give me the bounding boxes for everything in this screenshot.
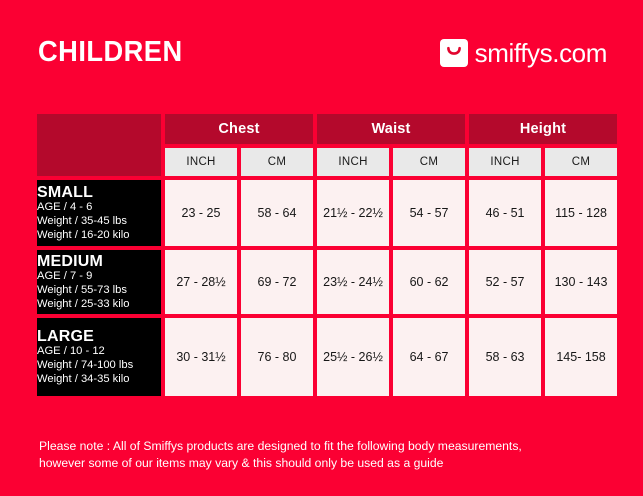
- size-weight-lbs: Weight / 55-73 lbs: [37, 284, 161, 298]
- size-age: AGE / 4 - 6: [37, 201, 161, 215]
- brand-name: smiffys.com: [475, 40, 607, 66]
- table-row: LARGE AGE / 10 - 12 Weight / 74-100 lbs …: [37, 318, 617, 396]
- unit-header-chest-inch: INCH: [165, 148, 237, 176]
- page-title: CHILDREN: [38, 38, 183, 67]
- cell-height-inch: 46 - 51: [469, 180, 541, 246]
- size-name: LARGE: [37, 328, 161, 346]
- unit-header-chest-cm: CM: [241, 148, 313, 176]
- cell-waist-cm: 60 - 62: [393, 250, 465, 314]
- cell-height-cm: 145- 158: [545, 318, 617, 396]
- size-chart-page: CHILDREN smiffys.com Chest Waist Height: [0, 0, 643, 496]
- cell-chest-cm: 69 - 72: [241, 250, 313, 314]
- size-table: Chest Waist Height INCH CM INCH CM INCH …: [33, 110, 621, 400]
- size-name: MEDIUM: [37, 253, 161, 271]
- cell-waist-cm: 54 - 57: [393, 180, 465, 246]
- cell-height-inch: 58 - 63: [469, 318, 541, 396]
- size-weight-lbs: Weight / 35-45 lbs: [37, 215, 161, 229]
- size-weight-lbs: Weight / 74-100 lbs: [37, 359, 161, 373]
- unit-header-waist-cm: CM: [393, 148, 465, 176]
- table-corner-cell: [37, 114, 161, 176]
- table-group-header-row: Chest Waist Height: [37, 114, 617, 144]
- cell-waist-inch: 21½ - 22½: [317, 180, 389, 246]
- page-header: CHILDREN smiffys.com: [0, 0, 643, 105]
- cell-chest-inch: 30 - 31½: [165, 318, 237, 396]
- cell-waist-cm: 64 - 67: [393, 318, 465, 396]
- size-label-medium: MEDIUM AGE / 7 - 9 Weight / 55-73 lbs We…: [37, 250, 161, 314]
- size-name: SMALL: [37, 184, 161, 202]
- size-table-wrapper: Chest Waist Height INCH CM INCH CM INCH …: [33, 110, 609, 400]
- column-group-waist: Waist: [317, 114, 465, 144]
- cell-waist-inch: 25½ - 26½: [317, 318, 389, 396]
- column-group-chest: Chest: [165, 114, 313, 144]
- cell-waist-inch: 23½ - 24½: [317, 250, 389, 314]
- footnote-line-1: Please note : All of Smiffys products ar…: [39, 438, 619, 455]
- size-age: AGE / 10 - 12: [37, 345, 161, 359]
- brand-logo: smiffys.com: [440, 39, 607, 67]
- cell-chest-inch: 27 - 28½: [165, 250, 237, 314]
- table-row: SMALL AGE / 4 - 6 Weight / 35-45 lbs Wei…: [37, 180, 617, 246]
- table-row: MEDIUM AGE / 7 - 9 Weight / 55-73 lbs We…: [37, 250, 617, 314]
- unit-header-waist-inch: INCH: [317, 148, 389, 176]
- cell-height-cm: 115 - 128: [545, 180, 617, 246]
- size-weight-kilo: Weight / 25-33 kilo: [37, 298, 161, 312]
- unit-header-height-inch: INCH: [469, 148, 541, 176]
- column-group-height: Height: [469, 114, 617, 144]
- cell-chest-cm: 58 - 64: [241, 180, 313, 246]
- size-age: AGE / 7 - 9: [37, 270, 161, 284]
- cell-chest-cm: 76 - 80: [241, 318, 313, 396]
- cell-height-cm: 130 - 143: [545, 250, 617, 314]
- smile-swoosh-icon: [440, 39, 468, 67]
- cell-height-inch: 52 - 57: [469, 250, 541, 314]
- cell-chest-inch: 23 - 25: [165, 180, 237, 246]
- unit-header-height-cm: CM: [545, 148, 617, 176]
- footnote: Please note : All of Smiffys products ar…: [39, 438, 619, 472]
- size-label-large: LARGE AGE / 10 - 12 Weight / 74-100 lbs …: [37, 318, 161, 396]
- footnote-line-2: however some of our items may vary & thi…: [39, 455, 619, 472]
- size-label-small: SMALL AGE / 4 - 6 Weight / 35-45 lbs Wei…: [37, 180, 161, 246]
- size-weight-kilo: Weight / 16-20 kilo: [37, 229, 161, 243]
- size-weight-kilo: Weight / 34-35 kilo: [37, 373, 161, 387]
